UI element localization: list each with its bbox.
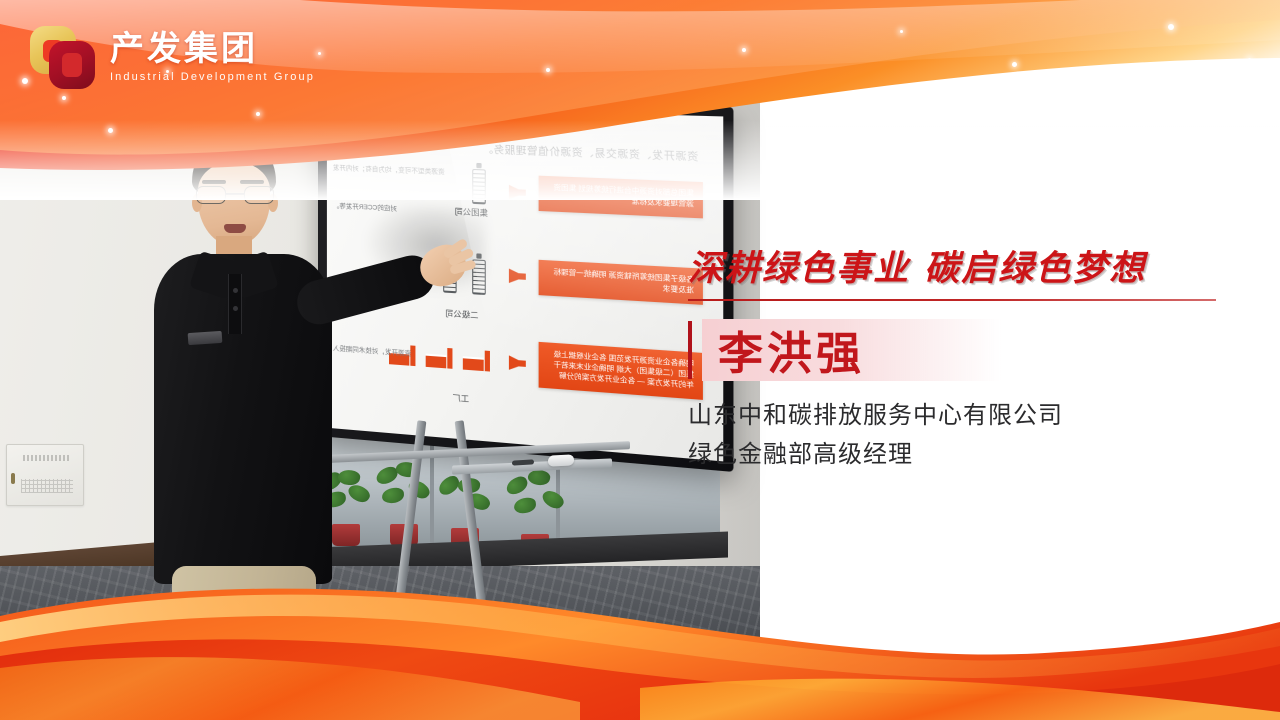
factory-icon: [463, 349, 490, 371]
sparkle-dot: [546, 68, 550, 72]
sparkle-dot: [22, 78, 28, 84]
speaker-info-panel: 深耕绿色事业 碳启绿色梦想 李洪强 山东中和碳排放服务中心有限公司 绿色金融部高…: [688, 248, 1228, 474]
shirt-button: [233, 306, 238, 311]
sparkle-dot: [318, 52, 321, 55]
headline-slogan: 深耕绿色事业 碳启绿色梦想: [688, 248, 1228, 291]
panel-lock-icon: [11, 473, 15, 484]
brand-logo-text: 产发集团 Industrial Development Group: [110, 31, 315, 86]
sparkle-dot: [742, 48, 746, 52]
sparkle-dot: [900, 30, 903, 33]
name-badge: [188, 331, 223, 345]
speaker-name: 李洪强: [718, 317, 865, 382]
sparkle-dot: [1168, 24, 1174, 30]
bottom-decoration-ribbon: [0, 560, 1280, 720]
speaker-affiliation: 山东中和碳排放服务中心有限公司 绿色金融部高级经理: [688, 397, 1228, 475]
title-card-stage: 资源开发、资源交易、资源价值管理服务。 集团总部对资源中台进行统筹规划 集团资源…: [0, 0, 1280, 720]
shirt-button: [233, 288, 238, 293]
panel-label: [23, 455, 71, 461]
arrow-icon: [509, 269, 526, 284]
industrial-development-group-logo-icon: [30, 26, 96, 90]
slide-box: 明确各企业资源开发范围 各企业根据上级集团（二级集团）大纲 明确企业末来若干年的…: [539, 342, 703, 400]
arrow-icon: [509, 356, 526, 372]
wall-utility-panel-icon: [6, 444, 84, 506]
tier-label: 二级公司: [426, 307, 499, 323]
logo-red-square: [49, 41, 95, 89]
sparkle-dot: [1012, 62, 1017, 67]
shirt-placket: [228, 274, 242, 334]
panel-vents: [21, 479, 73, 493]
brand-logo[interactable]: 产发集团 Industrial Development Group: [30, 26, 315, 90]
sparkle-dot: [62, 96, 66, 100]
sparkle-dot: [108, 128, 113, 133]
brand-name-cn: 产发集团: [110, 31, 315, 68]
tier-label: 工厂: [430, 391, 492, 407]
speaker-name-row: 李洪强: [688, 319, 1228, 381]
sparkle-dot: [1084, 86, 1087, 89]
sparkle-dot: [256, 112, 260, 116]
sparkle-dot: [1214, 96, 1218, 100]
brand-name-en: Industrial Development Group: [110, 70, 315, 85]
affiliation-line-title: 绿色金融部高级经理: [688, 436, 1228, 475]
sparkle-dot: [1248, 58, 1251, 61]
name-accent-bar: [688, 321, 692, 379]
eraser-icon: [548, 454, 574, 466]
mouth: [224, 224, 246, 233]
bottom-ribbon-graphic: [0, 560, 1280, 720]
affiliation-line-company: 山东中和碳排放服务中心有限公司: [688, 397, 1228, 436]
headline-divider: [688, 299, 1216, 301]
slide-box: 各级子集团统筹所辖资源 明确统一管理标准及要求: [539, 260, 703, 305]
